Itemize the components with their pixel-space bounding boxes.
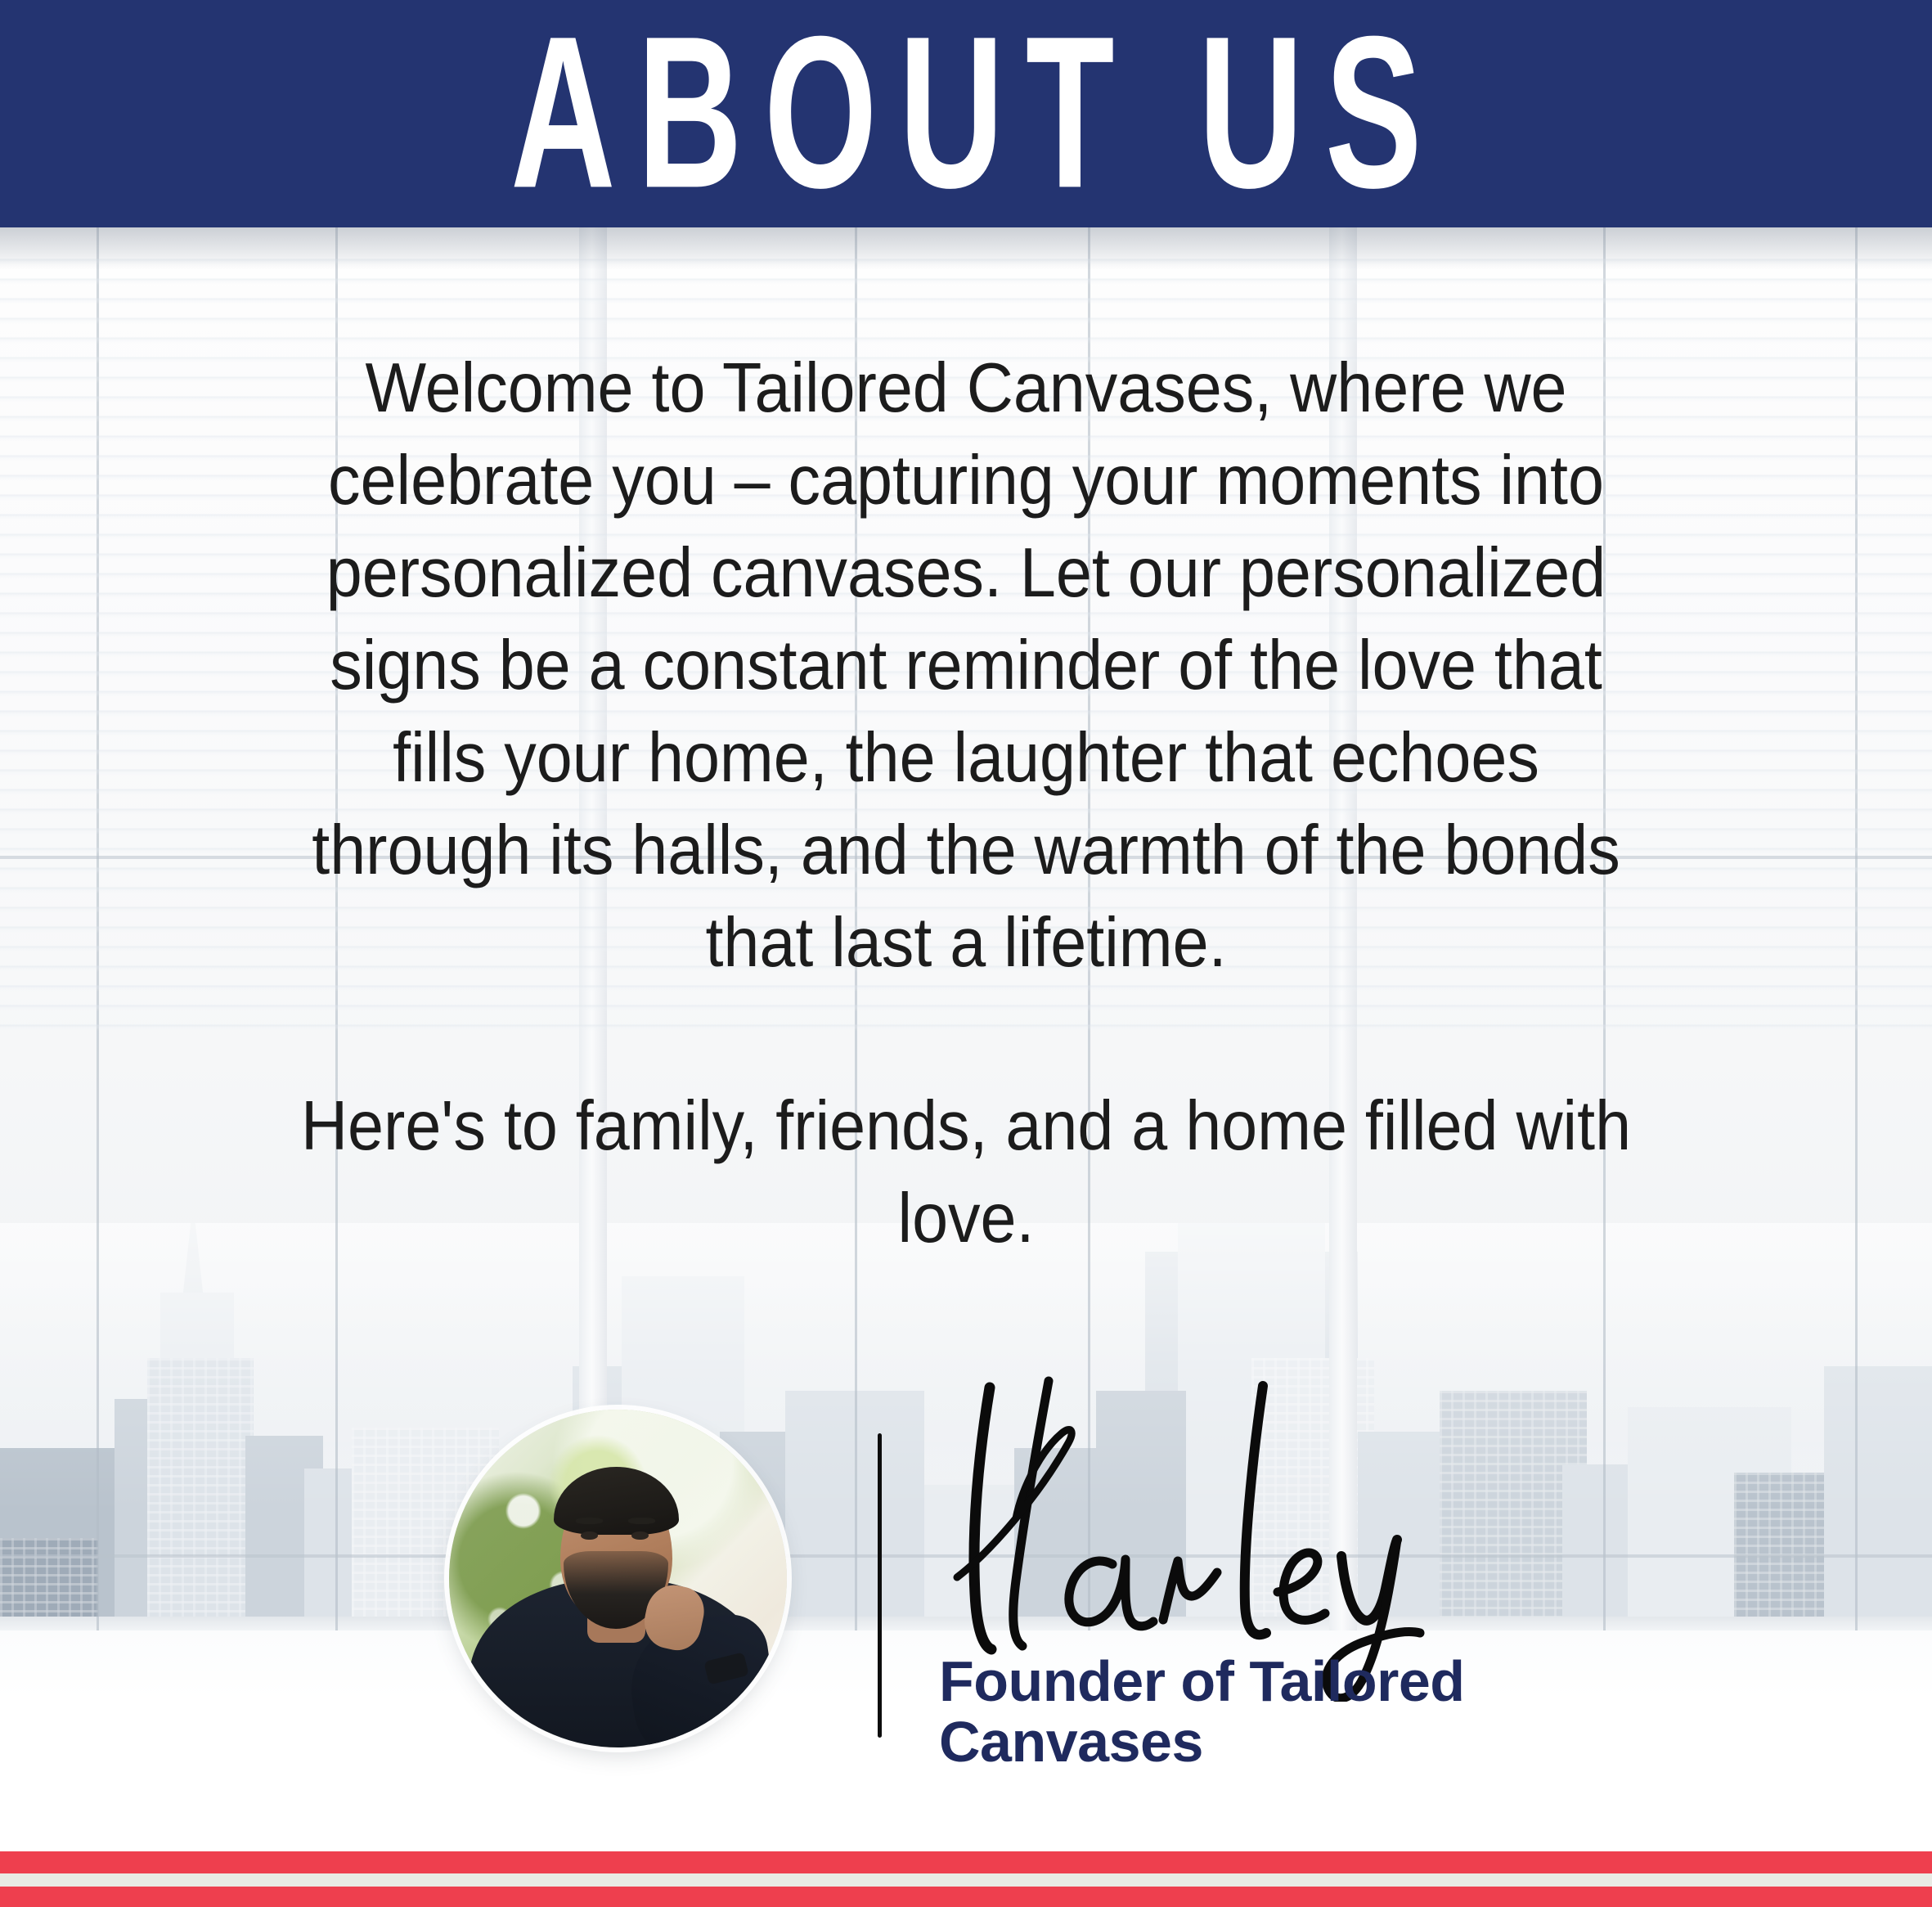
banner-drop-shadow: [0, 227, 1932, 270]
city-skyline-background: [0, 1223, 1932, 1636]
avatar-photo: [449, 1410, 787, 1747]
founder-caption-line2: Canvases: [939, 1711, 1561, 1772]
paragraph-closing: Here's to family, friends, and a home fi…: [296, 1080, 1637, 1265]
about-us-banner: ABOUT US: [0, 0, 1932, 227]
paragraph-intro: Welcome to Tailored Canvases, where we c…: [296, 342, 1637, 989]
about-us-copy: Welcome to Tailored Canvases, where we c…: [0, 342, 1932, 1265]
about-us-poster: ABOUT US Welcome to Tailored Canvases, w…: [0, 0, 1932, 1907]
bottom-stripe-gap: [0, 1873, 1932, 1887]
bottom-stripe-lower: [0, 1887, 1932, 1907]
founder-caption: Founder of Tailored Canvases: [939, 1651, 1561, 1772]
bottom-stripe-upper: [0, 1851, 1932, 1873]
founder-avatar: [449, 1410, 787, 1747]
signature-divider: [878, 1433, 882, 1738]
page-title: ABOUT US: [488, 14, 1443, 213]
window-transom: [0, 1554, 1932, 1558]
founder-caption-line1: Founder of Tailored: [939, 1651, 1561, 1711]
